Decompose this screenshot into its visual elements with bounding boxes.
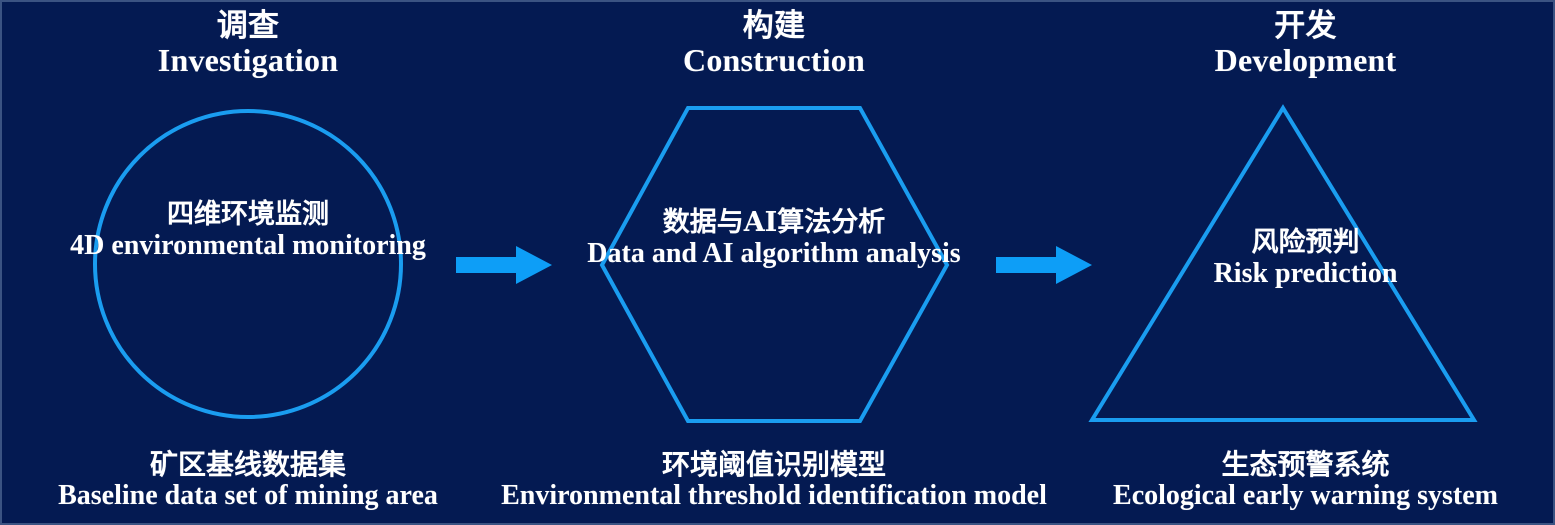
stage-construction: 构建 Construction 数据与AI算法分析 Data and AI al…	[494, 2, 1054, 525]
stage-title-construction: 构建 Construction	[494, 10, 1054, 78]
diagram-canvas: 调查 Investigation 四维环境监测 4D environmental…	[0, 0, 1555, 525]
stage-caption-cn: 矿区基线数据集	[2, 450, 494, 480]
shape-container-hexagon: 数据与AI算法分析 Data and AI algorithm analysis	[494, 100, 1054, 430]
stage-title-cn: 开发	[1054, 10, 1555, 43]
circle-shape-icon	[2, 100, 494, 430]
stage-caption-en: Ecological early warning system	[1054, 481, 1555, 511]
stage-title-development: 开发 Development	[1054, 10, 1555, 78]
stage-development: 开发 Development 风险预判 Risk prediction 生态预警…	[1054, 2, 1555, 525]
stage-caption-construction: 环境阈值识别模型 Environmental threshold identif…	[494, 450, 1054, 511]
stage-caption-development: 生态预警系统 Ecological early warning system	[1054, 450, 1555, 511]
hexagon-shape-icon	[494, 100, 1054, 430]
stage-title-cn: 构建	[494, 10, 1054, 43]
stage-caption-cn: 环境阈值识别模型	[494, 450, 1054, 480]
shape-container-triangle: 风险预判 Risk prediction	[1054, 100, 1555, 430]
shape-container-circle: 四维环境监测 4D environmental monitoring	[2, 100, 494, 430]
stage-title-en: Development	[1054, 44, 1555, 78]
stage-title-en: Construction	[494, 44, 1054, 78]
stage-title-investigation: 调查 Investigation	[2, 10, 494, 78]
triangle-shape-icon	[1054, 100, 1555, 430]
stage-caption-en: Environmental threshold identification m…	[494, 481, 1054, 511]
stage-investigation: 调查 Investigation 四维环境监测 4D environmental…	[2, 2, 494, 525]
stage-caption-en: Baseline data set of mining area	[2, 481, 494, 511]
stage-caption-cn: 生态预警系统	[1054, 450, 1555, 480]
stage-title-cn: 调查	[2, 10, 494, 43]
arrow-right-icon-1	[456, 245, 552, 285]
arrow-right-icon-2	[996, 245, 1092, 285]
stage-caption-investigation: 矿区基线数据集 Baseline data set of mining area	[2, 450, 494, 511]
stage-title-en: Investigation	[2, 44, 494, 78]
